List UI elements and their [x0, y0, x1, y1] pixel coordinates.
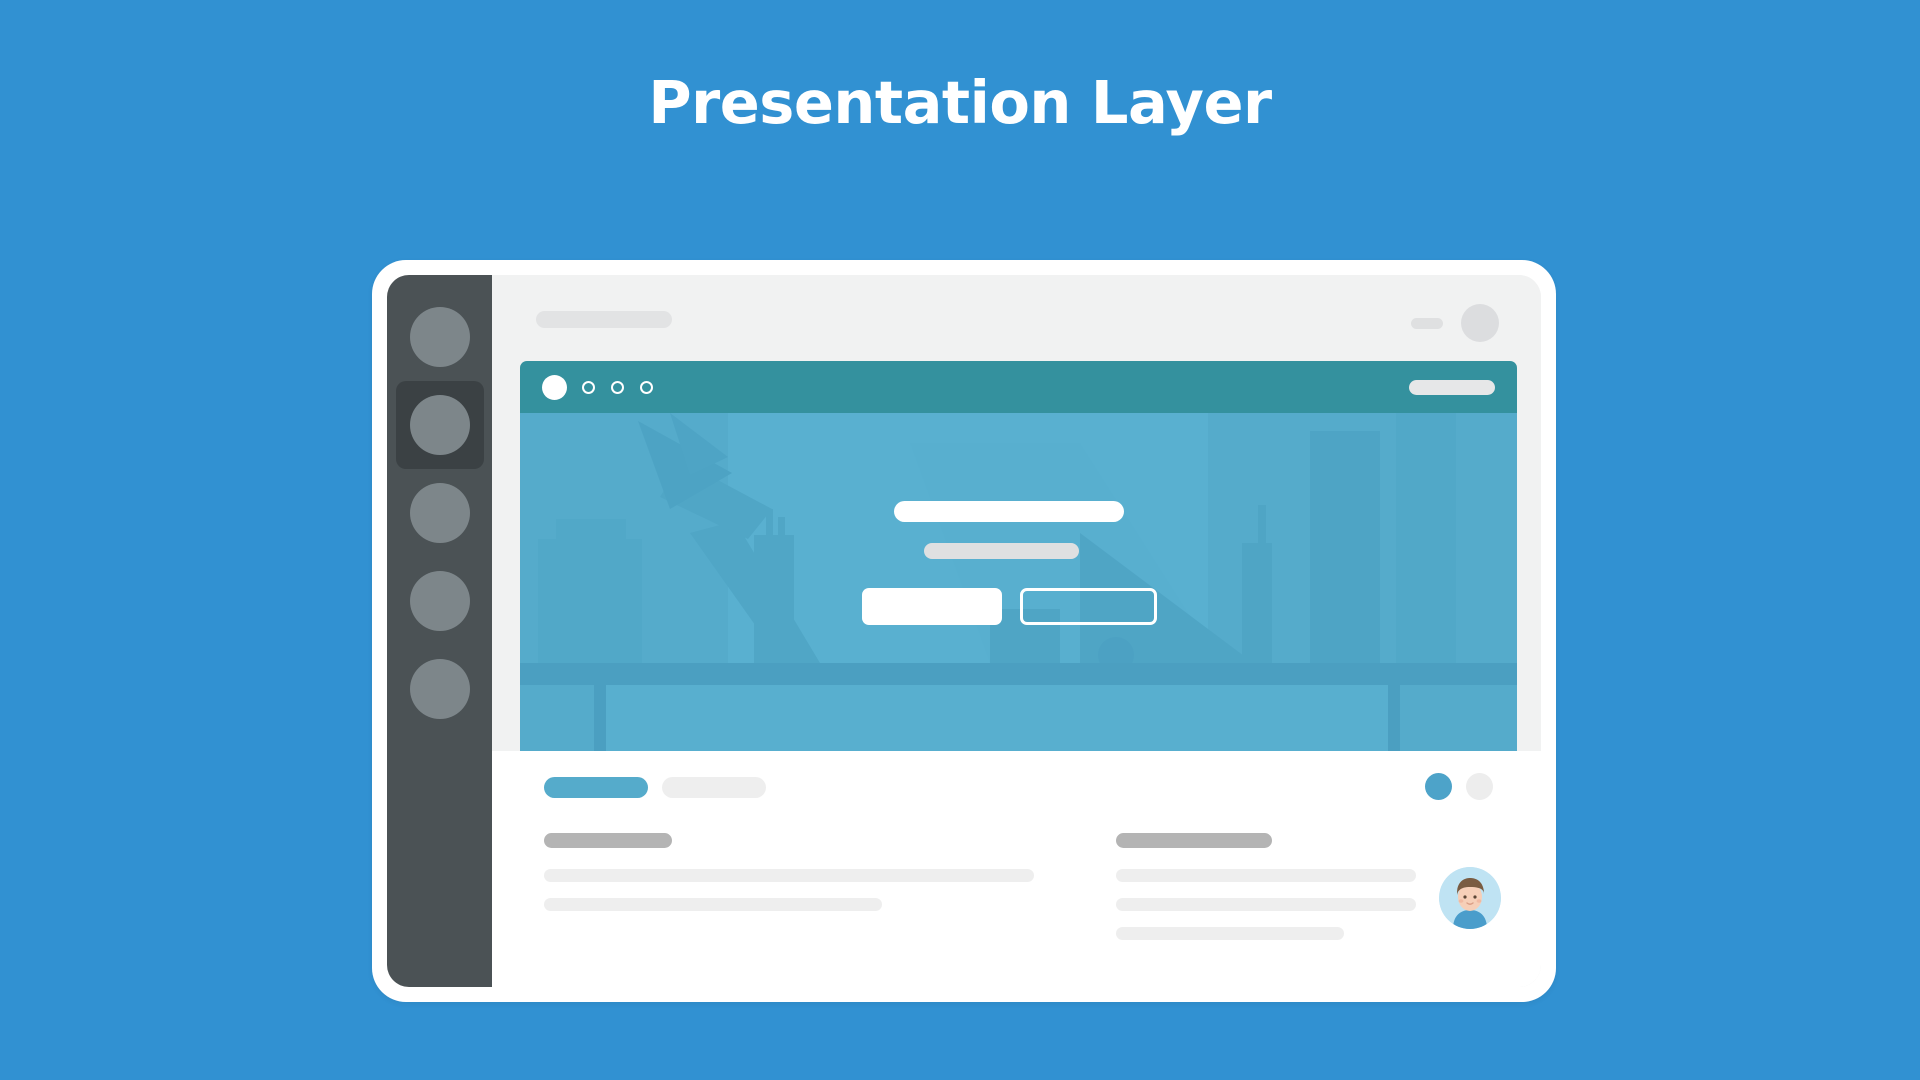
carousel-dot-inactive[interactable]	[1466, 773, 1493, 800]
circle-icon	[410, 483, 470, 543]
sidebar-item-5[interactable]	[396, 645, 484, 733]
hero-headline-placeholder	[894, 501, 1124, 522]
text-line-placeholder	[544, 869, 1034, 882]
device-screen	[387, 275, 1541, 987]
hero-content	[520, 413, 1517, 751]
content-section	[492, 751, 1541, 987]
content-column-right	[1116, 833, 1416, 956]
browser-chrome-bar	[520, 361, 1517, 413]
tab-primary[interactable]	[544, 777, 648, 798]
circle-icon	[410, 395, 470, 455]
carousel-indicator	[1411, 773, 1493, 800]
circle-filled-icon[interactable]	[542, 375, 567, 400]
avatar-person-icon	[1439, 867, 1501, 929]
circle-outline-icon[interactable]	[582, 381, 595, 394]
address-bar[interactable]	[1409, 380, 1495, 395]
circle-outline-icon[interactable]	[611, 381, 624, 394]
app-sidebar	[387, 275, 492, 987]
circle-icon	[410, 571, 470, 631]
sidebar-item-2[interactable]	[396, 381, 484, 469]
app-title-placeholder	[536, 311, 672, 328]
text-line-placeholder	[1116, 927, 1344, 940]
hero-banner	[520, 413, 1517, 751]
hero-secondary-button[interactable]	[1020, 588, 1157, 625]
circle-icon	[410, 307, 470, 367]
circle-avatar-icon[interactable]	[1461, 304, 1499, 342]
text-line-placeholder	[1116, 898, 1416, 911]
browser-window	[520, 361, 1517, 751]
app-topbar	[492, 275, 1541, 361]
tab-secondary[interactable]	[662, 777, 766, 798]
sidebar-item-3[interactable]	[396, 469, 484, 557]
text-line-placeholder	[544, 898, 882, 911]
column-heading-placeholder	[1116, 833, 1272, 848]
device-frame	[372, 260, 1556, 1002]
text-line-placeholder	[1116, 869, 1416, 882]
page-title: Presentation Layer	[0, 68, 1920, 137]
tabs-row	[544, 777, 780, 798]
sidebar-item-1[interactable]	[396, 293, 484, 381]
circle-outline-icon[interactable]	[640, 381, 653, 394]
column-heading-placeholder	[544, 833, 672, 848]
content-column-left	[544, 833, 1034, 927]
circle-icon	[410, 659, 470, 719]
sidebar-item-4[interactable]	[396, 557, 484, 645]
app-main-pane	[492, 275, 1541, 987]
hero-primary-button[interactable]	[862, 588, 1002, 625]
hero-subtitle-placeholder	[924, 543, 1079, 559]
dash-icon[interactable]	[1411, 318, 1443, 329]
carousel-dot-active[interactable]	[1425, 773, 1452, 800]
user-avatar[interactable]	[1439, 867, 1501, 929]
